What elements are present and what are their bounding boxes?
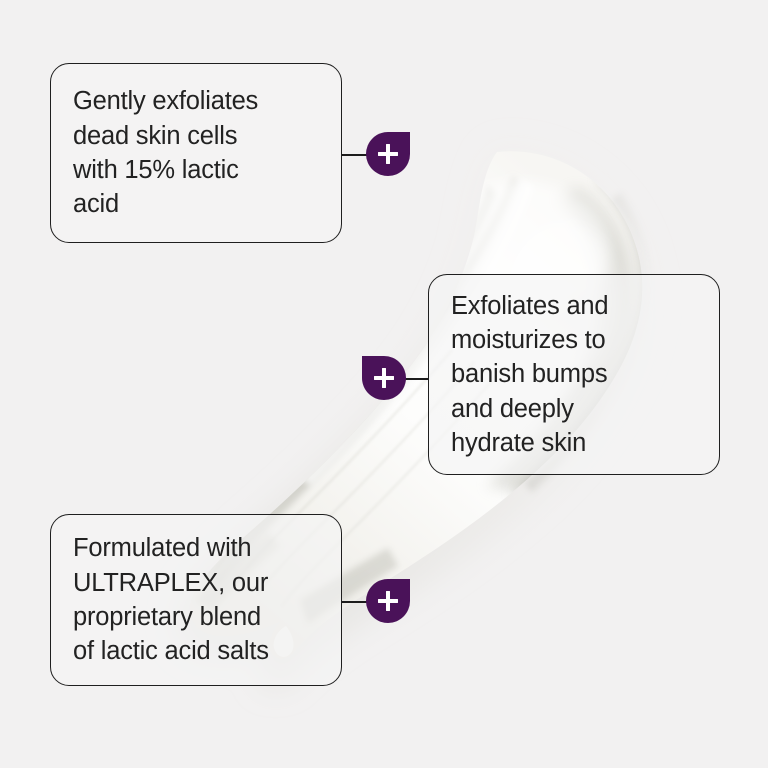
plus-icon [362, 356, 406, 400]
plus-badge-exfoliates-moisturizes[interactable] [362, 356, 406, 400]
callout-text-exfoliates-moisturizes: Exfoliates and moisturizes to banish bum… [429, 289, 630, 460]
callout-card-lactic-acid[interactable]: Gently exfoliates dead skin cells with 1… [50, 63, 342, 243]
infographic-canvas: Gently exfoliates dead skin cells with 1… [0, 0, 768, 768]
callout-card-ultraplex[interactable]: Formulated with ULTRAPLEX, our proprieta… [50, 514, 342, 686]
plus-badge-lactic-acid[interactable] [366, 132, 410, 176]
callout-card-exfoliates-moisturizes[interactable]: Exfoliates and moisturizes to banish bum… [428, 274, 720, 475]
plus-icon [366, 132, 410, 176]
connector-line-2 [403, 378, 429, 380]
callout-text-lactic-acid: Gently exfoliates dead skin cells with 1… [51, 84, 280, 221]
plus-badge-ultraplex[interactable] [366, 579, 410, 623]
connector-line-3 [341, 601, 367, 603]
connector-line-1 [341, 154, 367, 156]
plus-icon [366, 579, 410, 623]
callout-text-ultraplex: Formulated with ULTRAPLEX, our proprieta… [51, 531, 291, 668]
